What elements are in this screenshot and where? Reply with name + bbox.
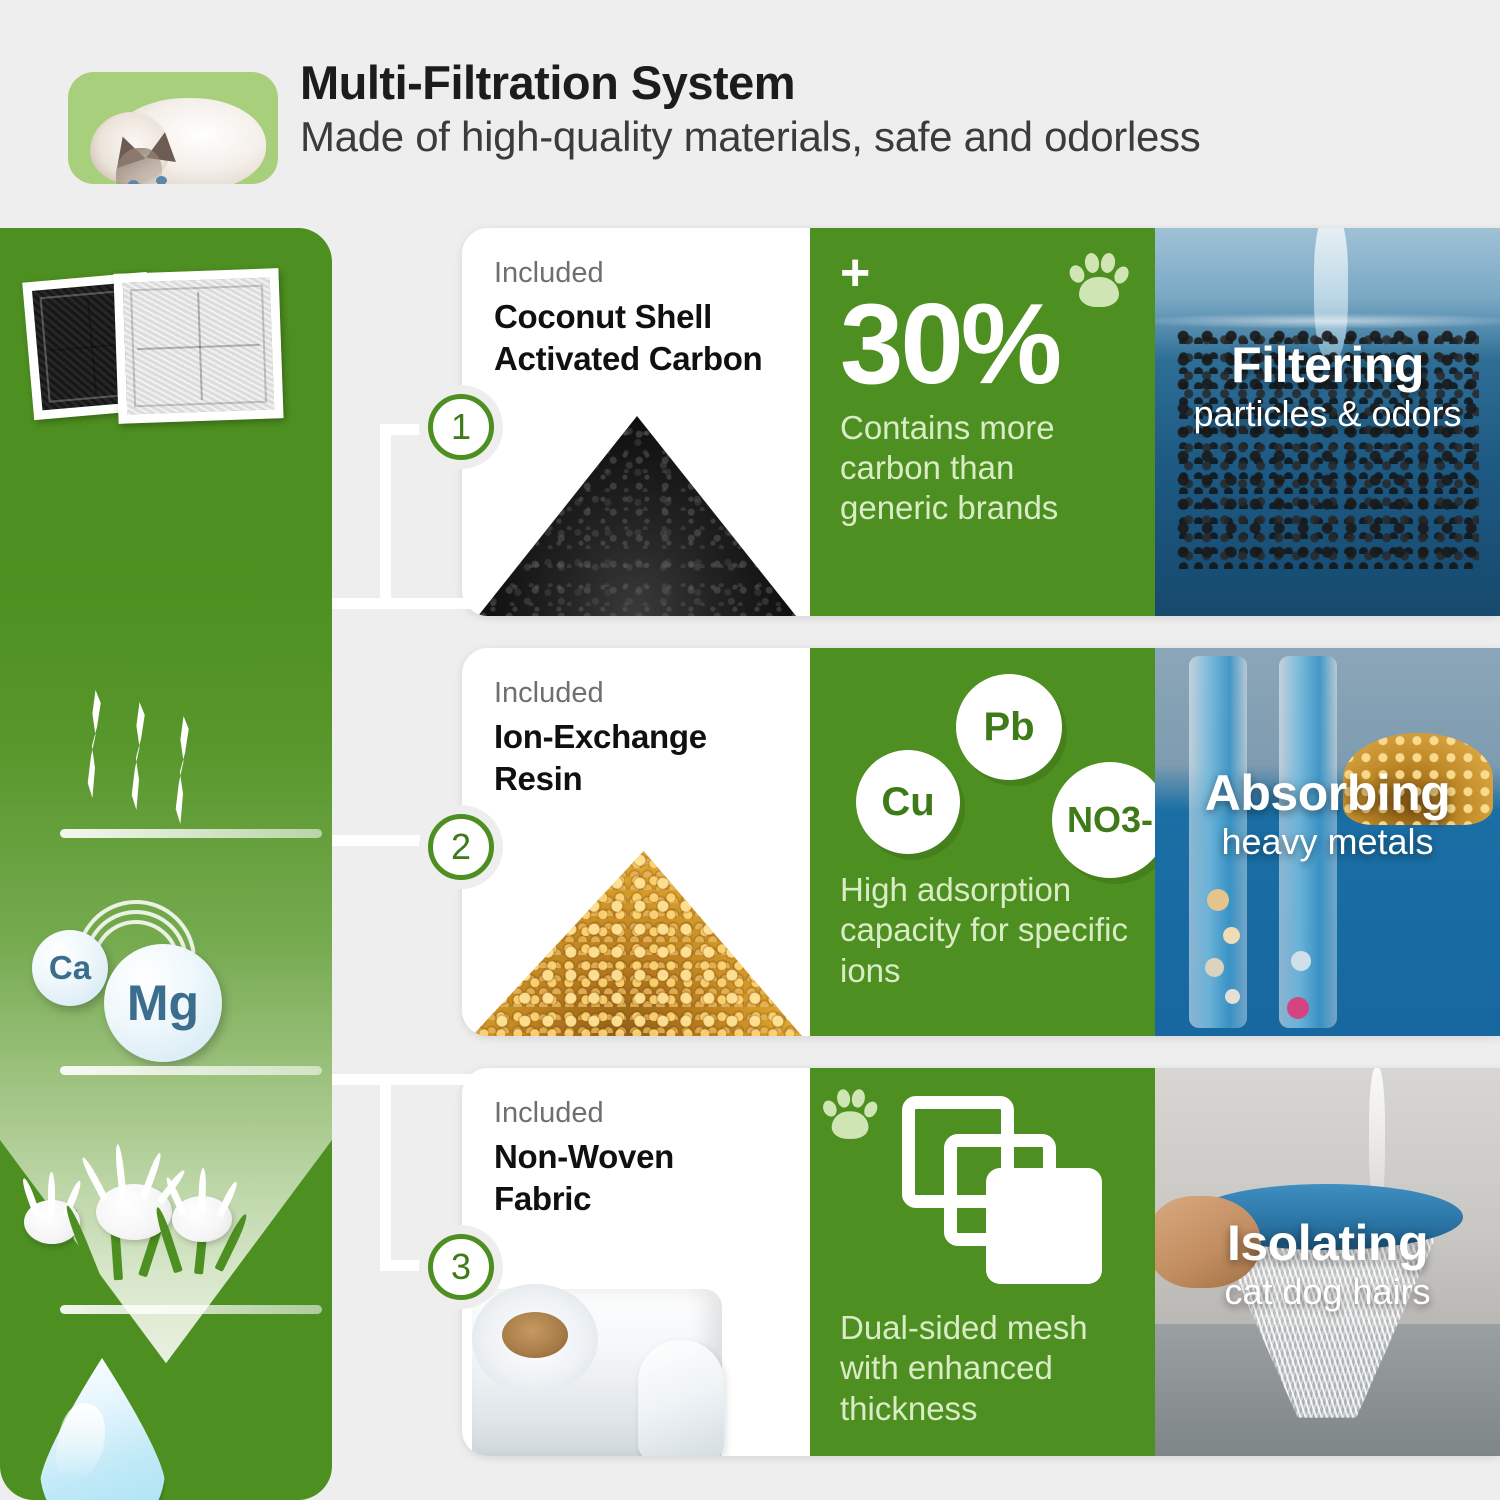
connector-riser-1 xyxy=(380,430,392,608)
included-label-1: Included xyxy=(494,258,784,290)
white-fabric-roll-photo xyxy=(462,1226,810,1456)
filter-pads-icon xyxy=(18,263,308,423)
stat-caption-1: Contains more carbon than generic brands xyxy=(840,408,1129,529)
benefit-subtitle-3: cat dog hairs xyxy=(1155,1272,1500,1312)
amber-resin-beads-photo xyxy=(462,806,810,1036)
material-info-panel-1: Included Coconut Shell Activated Carbon xyxy=(462,228,810,616)
material-info-panel-3: Included Non-Woven Fabric xyxy=(462,1068,810,1456)
divider-2 xyxy=(60,1066,322,1075)
material-info-panel-2: Included Ion-Exchange Resin xyxy=(462,648,810,1036)
odor-waves-icon xyxy=(78,690,258,820)
ca-mg-minerals-icon: Ca Mg xyxy=(18,896,268,1056)
material-name-line2-1: Activated Carbon xyxy=(494,338,784,380)
paw-print-icon xyxy=(1069,250,1131,312)
activated-carbon-powder-photo xyxy=(462,386,810,616)
stat-panel-3: Dual-sided mesh with enhanced thickness xyxy=(810,1068,1155,1456)
filtration-stage-row-1: Included Coconut Shell Activated Carbon … xyxy=(462,228,1500,616)
connector-line-3 xyxy=(332,1074,472,1086)
step-badge-1: 1 xyxy=(428,394,494,460)
page-title: Multi-Filtration System xyxy=(300,58,1200,107)
benefit-title-2: Absorbing xyxy=(1155,768,1500,818)
material-name-line2-2: Resin xyxy=(494,758,784,800)
material-name-line1-3: Non-Woven xyxy=(494,1136,784,1178)
ion-bubble-mg: Mg xyxy=(104,944,222,1062)
filtration-stage-row-2: Included Ion-Exchange Resin Pb Cu NO3- H… xyxy=(462,648,1500,1036)
stat-caption-3: Dual-sided mesh with enhanced thickness xyxy=(840,1308,1129,1429)
included-label-3: Included xyxy=(494,1098,784,1130)
stat-panel-1: + 30% Contains more carbon than generic … xyxy=(810,228,1155,616)
connector-line-1 xyxy=(332,598,472,610)
material-name-line2-3: Fabric xyxy=(494,1178,784,1220)
benefit-title-1: Filtering xyxy=(1155,340,1500,390)
infographic-page: Multi-Filtration System Made of high-qua… xyxy=(0,0,1500,1500)
page-header: Multi-Filtration System Made of high-qua… xyxy=(0,0,1500,225)
benefit-photo-panel-1: Filtering particles & odors xyxy=(1155,228,1500,616)
stat-caption-2: High adsorption capacity for specific io… xyxy=(840,870,1129,991)
step-badge-3: 3 xyxy=(428,1234,494,1300)
benefit-title-3: Isolating xyxy=(1155,1218,1500,1268)
divider-3 xyxy=(60,1305,322,1314)
ion-chip-no3: NO3- xyxy=(1052,762,1168,878)
benefit-subtitle-1: particles & odors xyxy=(1155,394,1500,434)
filtration-stage-row-3: Included Non-Woven Fabric xyxy=(462,1068,1500,1456)
cat-photo-icon xyxy=(68,72,278,184)
step-badge-2: 2 xyxy=(428,814,494,880)
included-label-2: Included xyxy=(494,678,784,710)
material-name-line1-1: Coconut Shell xyxy=(494,296,784,338)
materials-overview-column: Ca Mg xyxy=(0,228,332,1500)
ion-chip-pb: Pb xyxy=(956,674,1062,780)
ion-bubble-ca: Ca xyxy=(32,930,108,1006)
benefit-subtitle-2: heavy metals xyxy=(1155,822,1500,862)
stat-panel-2: Pb Cu NO3- High adsorption capacity for … xyxy=(810,648,1155,1036)
divider-1 xyxy=(60,829,322,838)
benefit-photo-panel-2: Absorbing heavy metals xyxy=(1155,648,1500,1036)
dual-sided-mesh-icon xyxy=(840,1090,1129,1298)
benefit-photo-panel-3: Isolating cat dog hairs xyxy=(1155,1068,1500,1456)
material-name-line1-2: Ion-Exchange xyxy=(494,716,784,758)
page-subtitle: Made of high-quality materials, safe and… xyxy=(300,113,1200,161)
pet-hair-icon xyxy=(18,1146,308,1296)
connector-riser-3 xyxy=(380,1074,392,1270)
ion-chip-cu: Cu xyxy=(856,750,960,854)
